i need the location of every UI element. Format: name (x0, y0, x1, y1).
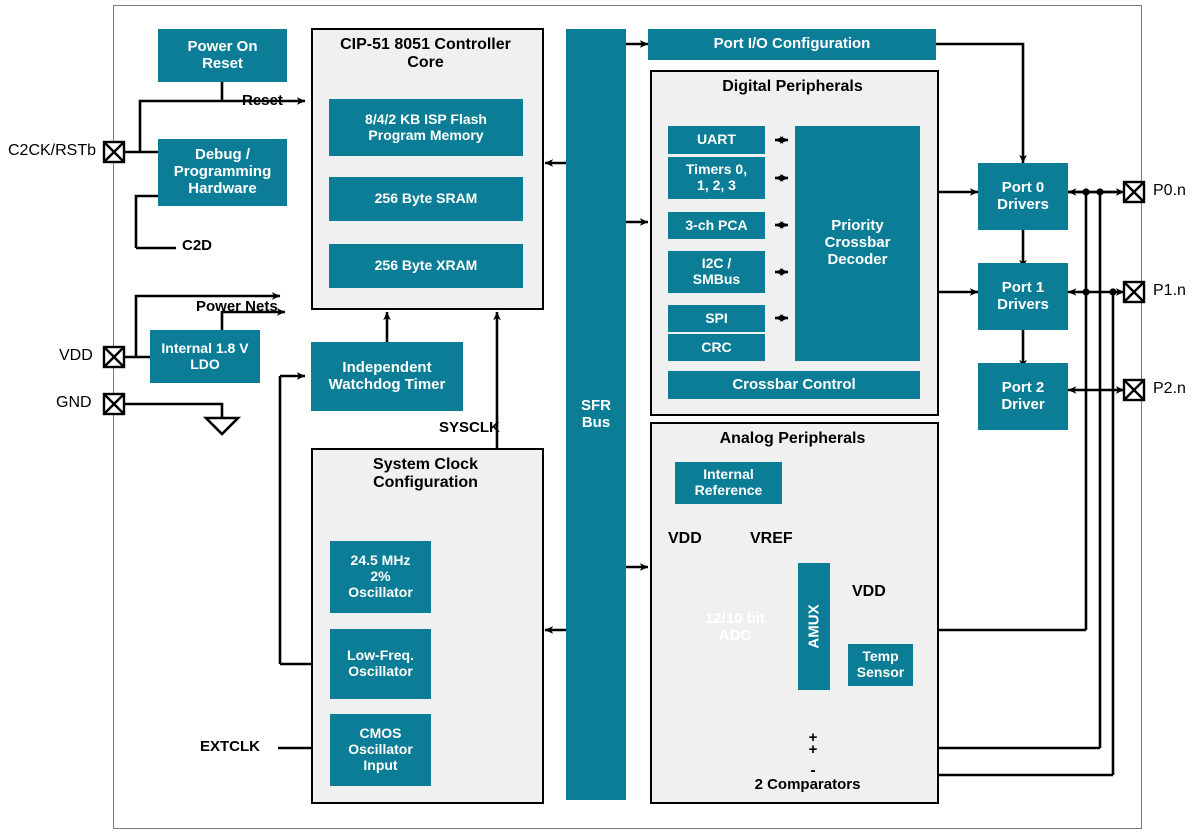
temp-sensor-block[interactable]: Temp Sensor (848, 644, 913, 686)
osc-24mhz-block[interactable]: 24.5 MHz 2% Oscillator (330, 541, 431, 613)
signal-label-vdd-amux: VDD (852, 583, 886, 601)
pin-label-vdd: VDD (59, 347, 93, 365)
comparators-caption: 2 Comparators (690, 777, 925, 794)
internal-reference-block[interactable]: Internal Reference (675, 462, 782, 504)
signal-label-vref: VREF (750, 530, 793, 548)
crossbar-connectors (0, 0, 1192, 836)
analog-peripherals-title: Analog Peripherals (650, 430, 935, 448)
pin-label-p1n: P1.n (1153, 282, 1186, 300)
pin-label-p2n: P2.n (1153, 380, 1186, 398)
signal-label-vdd-ref: VDD (668, 530, 702, 548)
osc-cmos-input-block[interactable]: CMOS Oscillator Input (330, 714, 431, 786)
signal-label-power-nets: Power Nets (196, 299, 278, 316)
system-clock-title: System Clock Configuration (311, 456, 540, 492)
amux-block[interactable]: AMUX (798, 563, 830, 690)
signal-label-reset: Reset (242, 93, 283, 110)
comparator-plus2-label: + (806, 742, 820, 759)
block-diagram-canvas: Power On Reset Debug / Programming Hardw… (0, 0, 1192, 836)
signal-label-c2d: C2D (182, 238, 212, 255)
signal-label-extclk: EXTCLK (200, 739, 260, 756)
osc-lowfreq-block[interactable]: Low-Freq. Oscillator (330, 629, 431, 699)
signal-label-sysclk: SYSCLK (439, 420, 500, 437)
pin-label-gnd: GND (56, 394, 92, 412)
pin-label-c2ck-rstb: C2CK/RSTb (8, 142, 96, 160)
adc-label: 12/10 bit ADC (692, 611, 778, 645)
pin-label-p0n: P0.n (1153, 182, 1186, 200)
amux-label: AMUX (806, 604, 823, 648)
